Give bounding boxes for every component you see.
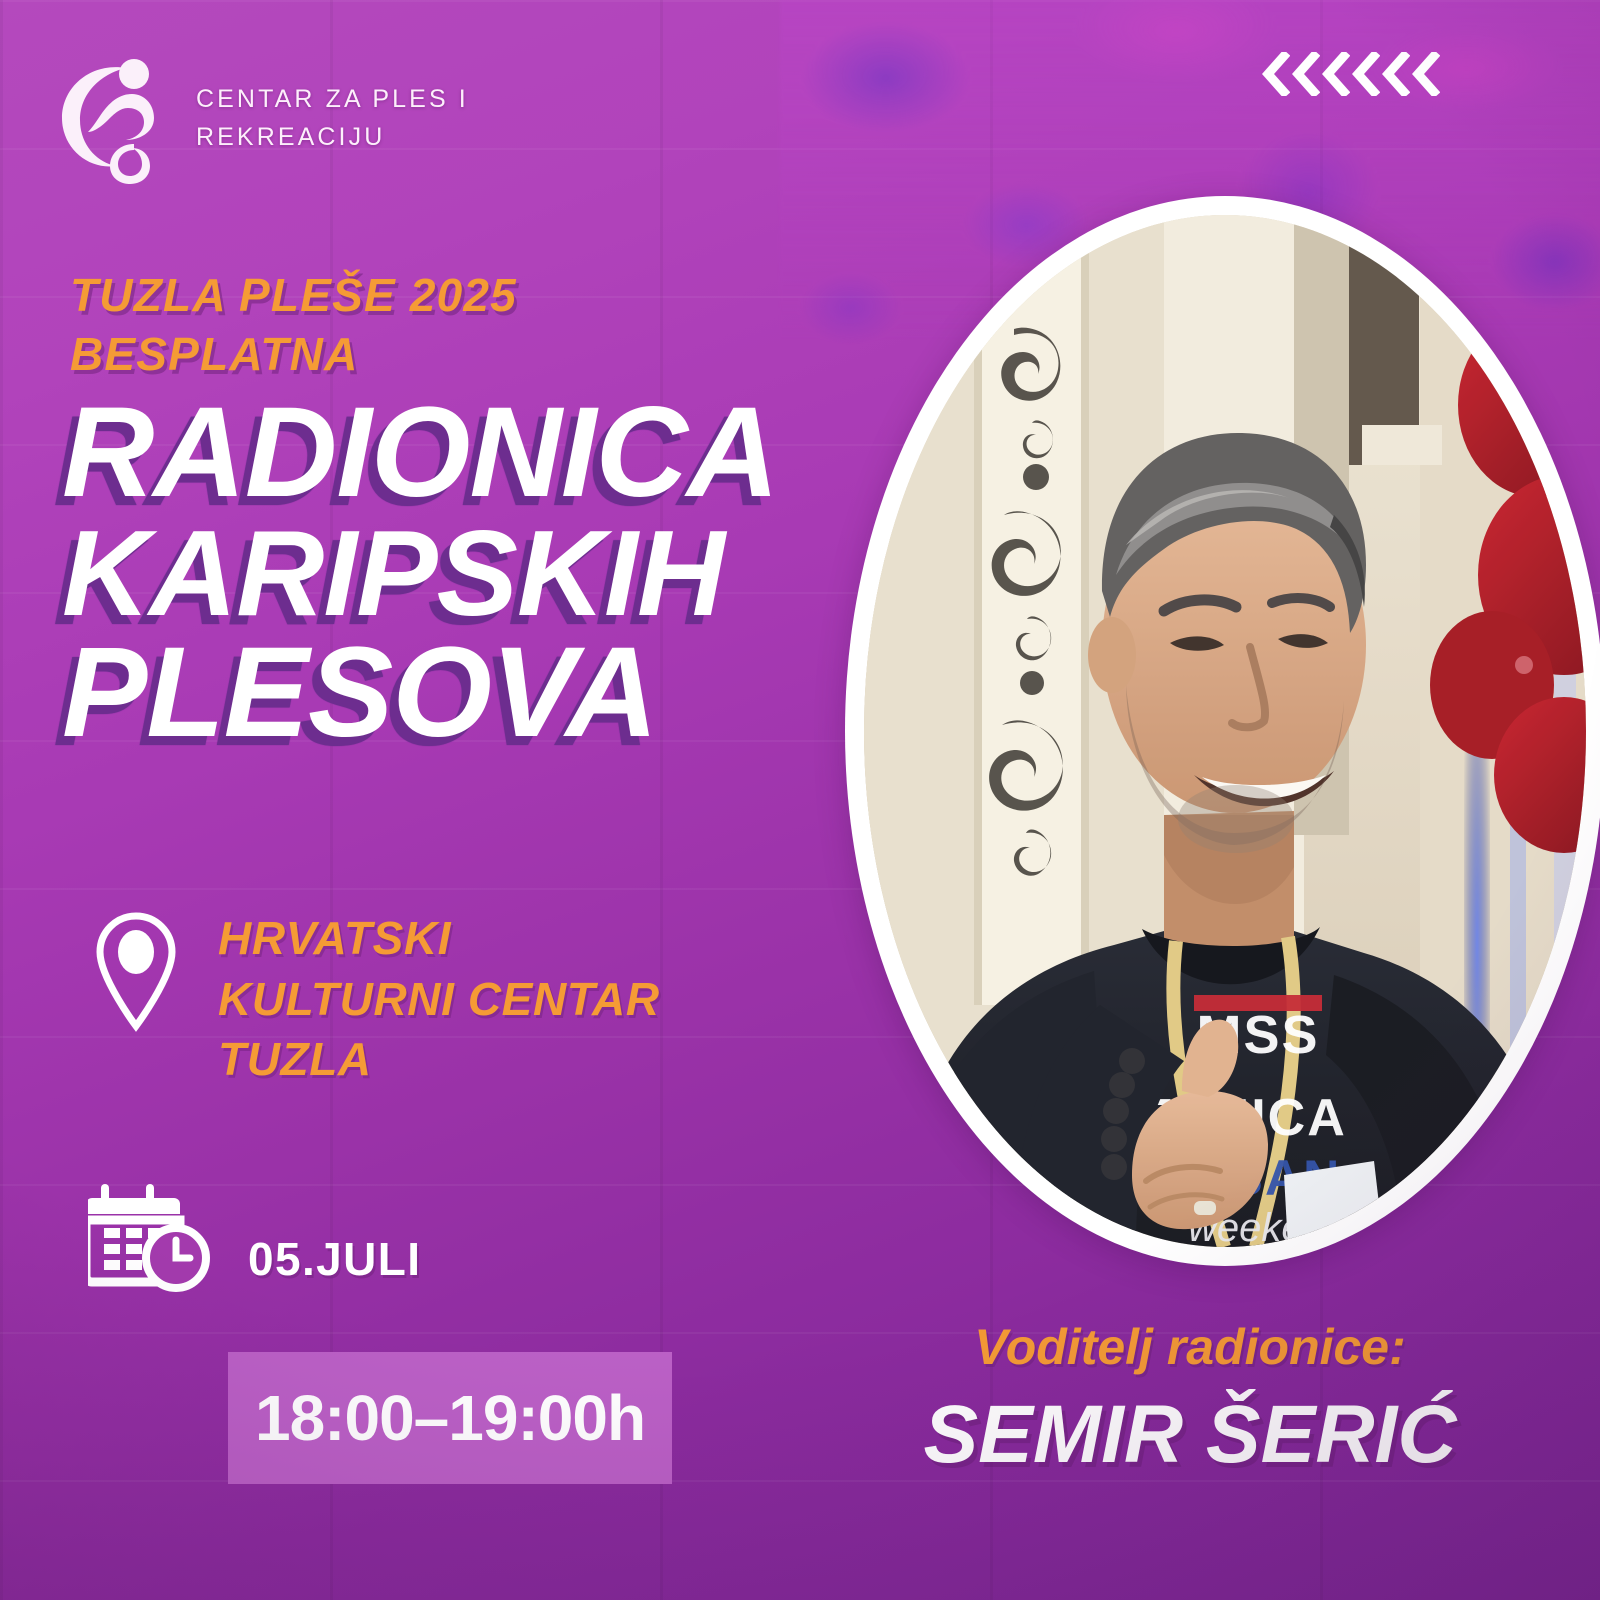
chevron-left-icon xyxy=(1262,52,1290,96)
page-title: RADIONICA KARIPSKIH PLESOVA xyxy=(62,392,892,755)
chevron-left-icon xyxy=(1352,52,1380,96)
time-badge: 18:00–19:00h xyxy=(228,1352,672,1484)
chevron-left-icon xyxy=(1322,52,1350,96)
event-eyebrow: TUZLA PLEŠE 2025 BESPLATNA xyxy=(70,266,517,384)
date-day: 05.JULI xyxy=(248,1229,447,1290)
presenter-block: Voditelj radionice: SEMIR ŠERIĆ xyxy=(860,1318,1520,1482)
chevron-left-icon xyxy=(1412,52,1440,96)
chevron-left-icon xyxy=(1292,52,1320,96)
poster-canvas: CENTAR ZA PLES I REKREACIJU TUZLA PLEŠE … xyxy=(0,0,1600,1600)
dancer-circle-logo-icon xyxy=(52,52,170,184)
calendar-clock-icon xyxy=(88,1168,214,1294)
venue-info: HRVATSKI KULTURNI CENTAR TUZLA xyxy=(88,908,660,1090)
headline-line-3: PLESOVA xyxy=(62,632,892,755)
presenter-role: Voditelj radionice: xyxy=(860,1318,1520,1376)
brand-name: CENTAR ZA PLES I REKREACIJU xyxy=(196,80,469,156)
presenter-photo-frame: MSS ZENICA CUBAN weekend xyxy=(845,196,1600,1266)
headline-line-2: KARIPSKIH xyxy=(62,515,892,632)
chevron-decoration xyxy=(1262,52,1440,96)
location-pin-icon xyxy=(88,908,184,1036)
time-label: 18:00–19:00h xyxy=(255,1381,645,1455)
presenter-name: SEMIR ŠERIĆ xyxy=(860,1388,1520,1482)
chevron-left-icon xyxy=(1382,52,1410,96)
presenter-photo: MSS ZENICA CUBAN weekend xyxy=(864,215,1586,1247)
venue-address: HRVATSKI KULTURNI CENTAR TUZLA xyxy=(218,908,660,1090)
headline-line-1: RADIONICA xyxy=(62,392,892,515)
brand-logo: CENTAR ZA PLES I REKREACIJU xyxy=(52,52,469,184)
presenter-photo-illustration: MSS ZENICA CUBAN weekend xyxy=(864,215,1586,1247)
